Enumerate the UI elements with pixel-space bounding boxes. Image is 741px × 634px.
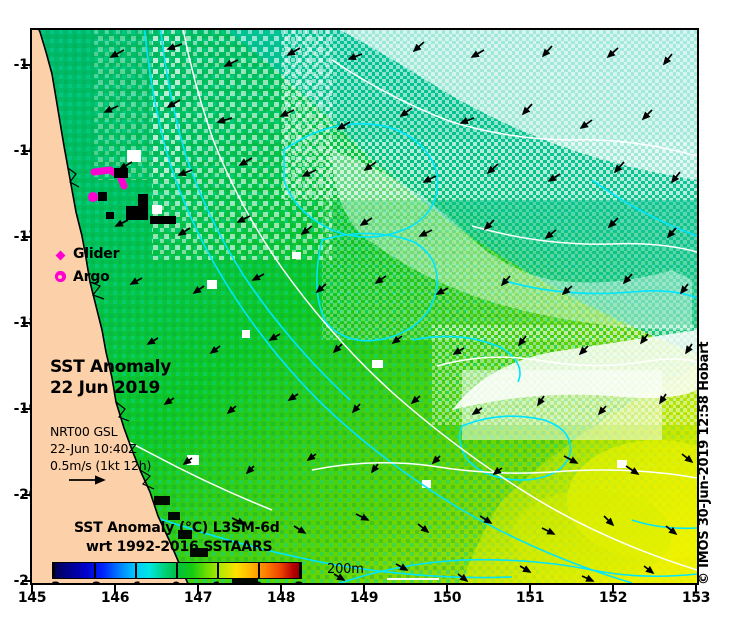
colorbar-legend: SST Anomaly (°C) L3SM-6d wrt 1992-2016 S… xyxy=(42,520,304,585)
credit-block: © IMOS 30-Jun-2019 12:58 Hobart xyxy=(703,28,737,585)
vector-scale-label: 0.5m/s (1kt 12h) xyxy=(50,457,151,474)
bathymetry-line-200m xyxy=(387,578,439,580)
colorbar-tick: -2 xyxy=(79,580,109,585)
x-tick-mark xyxy=(114,585,116,593)
y-tick-mark xyxy=(22,150,30,152)
credit-text: © IMOS 30-Jun-2019 12:58 Hobart xyxy=(697,342,712,585)
sst-anomaly-figure: -15 -16 -17 -18 -19 -20 -21 145 146 147 … xyxy=(0,0,741,634)
colorbar-gradient xyxy=(52,562,302,579)
vector-time-label: 22-Jun 10:40Z xyxy=(50,440,151,457)
legend-label-glider: Glider xyxy=(73,246,119,262)
map-title-line2: 22 Jun 2019 xyxy=(50,378,160,398)
sst-anomaly-raster xyxy=(32,30,697,583)
x-tick-mark xyxy=(446,585,448,593)
legend-label-argo: Argo xyxy=(73,269,110,285)
x-tick-mark xyxy=(529,585,531,593)
x-tick-mark xyxy=(612,585,614,593)
colorbar-tick: 0 xyxy=(161,580,191,585)
x-tick-mark xyxy=(695,585,697,593)
legend-item-argo: Argo xyxy=(47,265,119,288)
x-tick-mark xyxy=(197,585,199,593)
bathymetry-label-200m: 200m xyxy=(327,562,364,577)
colorbar-tick: 1 xyxy=(202,580,232,585)
vector-scale-arrow-icon xyxy=(68,475,112,485)
y-tick-mark xyxy=(22,408,30,410)
vector-key: NRT00 GSL 22-Jun 10:40Z 0.5m/s (1kt 12h) xyxy=(50,423,151,474)
argo-ring-icon xyxy=(47,267,73,286)
x-tick-mark xyxy=(31,585,33,593)
y-tick-mark xyxy=(22,236,30,238)
legend-item-glider: Glider xyxy=(47,242,119,265)
x-tick-mark xyxy=(363,585,365,593)
map-panel[interactable]: SST Anomaly 22 Jun 2019 NRT00 GSL 22-Jun… xyxy=(30,28,699,585)
colorbar-tick: 2 xyxy=(243,580,273,585)
colorbar-tick: 3 xyxy=(284,580,314,585)
map-title-line1: SST Anomaly xyxy=(50,357,171,377)
y-tick-mark xyxy=(22,494,30,496)
glider-diamond-icon xyxy=(47,244,73,263)
colorbar-tick: -1 xyxy=(120,580,150,585)
y-tick-mark xyxy=(22,322,30,324)
y-tick-mark xyxy=(22,580,30,582)
colorbar-tick: -3 xyxy=(38,580,68,585)
x-tick-mark xyxy=(280,585,282,593)
colorbar-title-line1: SST Anomaly (°C) L3SM-6d xyxy=(42,520,304,536)
colorbar-tick-labels: -3 -2 -1 0 1 2 3 xyxy=(52,579,304,585)
y-tick-mark xyxy=(22,64,30,66)
bathymetry-label-1000m: 1000m xyxy=(327,583,372,585)
vector-source-label: NRT00 GSL xyxy=(50,423,151,440)
argo-float-marker xyxy=(88,192,98,202)
colorbar-title-line2: wrt 1992-2016 SSTAARS xyxy=(42,539,304,555)
observation-platform-legend: Glider Argo xyxy=(47,242,119,288)
